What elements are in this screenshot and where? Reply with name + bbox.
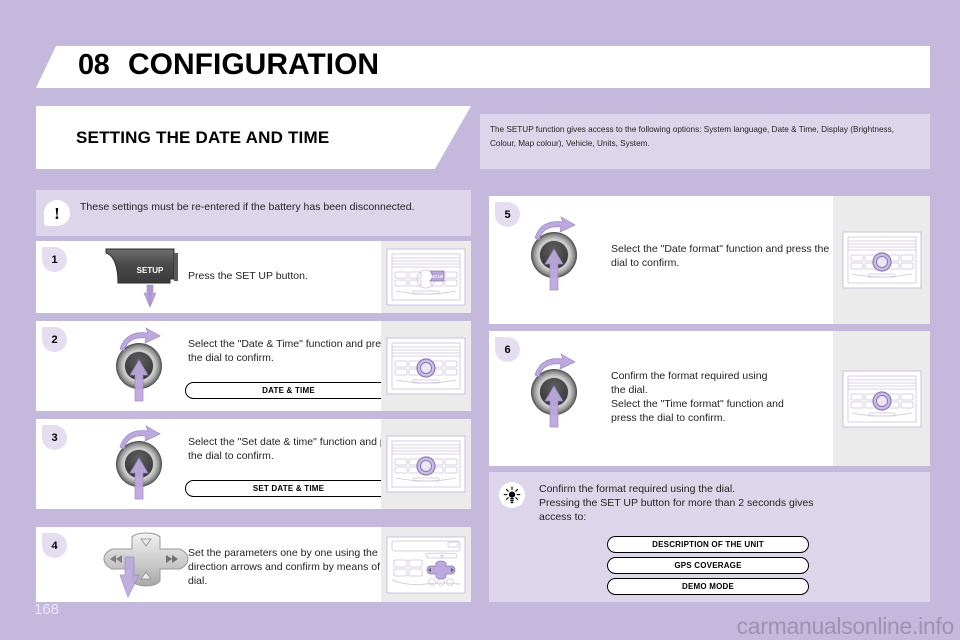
setup-button-label: SETUP [137, 266, 164, 275]
step-6-line-4: press the dial to confirm. [611, 411, 841, 425]
tip-note-text: Confirm the format required using the di… [539, 482, 919, 524]
steering-controls-pad-highlight-icon [386, 536, 466, 594]
rotary-dial-icon [523, 216, 585, 278]
step-card-5: 5 Select the "Date format" function and … [489, 196, 930, 324]
dial-arrows-svg [523, 353, 585, 431]
step-2-text: Select the "Date & Time" function and pr… [188, 337, 406, 365]
rotary-dial-icon [108, 327, 170, 389]
exclamation-glyph: ! [54, 205, 60, 222]
section-title: SETTING THE DATE AND TIME [76, 128, 329, 148]
rotary-dial-icon [108, 425, 170, 487]
tip-line-3: access to: [539, 510, 919, 524]
tip-note: Confirm the format required using the di… [489, 472, 930, 602]
step-number-badge: 2 [42, 327, 67, 352]
intro-text: The SETUP function gives access to the f… [490, 123, 918, 151]
step-card-6: 6 Confirm the format required using the … [489, 331, 930, 466]
step-6-image-panel [833, 331, 930, 466]
option-button-date-time[interactable]: DATE & TIME [185, 382, 392, 399]
step-4-image-panel [381, 527, 471, 602]
direction-pad-icon [98, 531, 190, 599]
tip-bulb-icon [499, 482, 525, 508]
warning-note: ! These settings must be re-entered if t… [36, 190, 471, 236]
dial-arrows-svg [108, 327, 170, 405]
step-card-4: 4 Set the parameters one by one using th… [36, 527, 471, 602]
step-number-badge: 1 [42, 247, 67, 272]
page-number: 168 [34, 601, 59, 618]
step-6-line-1: Confirm the format required using [611, 369, 841, 383]
step-6-text: Confirm the format required using the di… [611, 369, 841, 425]
section-title-band: SETTING THE DATE AND TIME [36, 106, 471, 169]
setup-button-svg: SETUP [104, 247, 180, 309]
radio-unit-setup-highlight-icon: SETUP [386, 248, 466, 306]
step-card-1: 1 SETUP Press the SET UP button. [36, 241, 471, 313]
step-2-image-panel [381, 321, 471, 411]
step-1-image-panel: SETUP [381, 241, 471, 313]
option-button-set-date-time[interactable]: SET DATE & TIME [185, 480, 392, 497]
option-button-description-of-the-unit[interactable]: DESCRIPTION OF THE UNIT [607, 536, 809, 553]
step-4-text: Set the parameters one by one using the … [188, 546, 406, 588]
step-5-image-panel [833, 196, 930, 324]
tip-line-2: Pressing the SET UP button for more than… [539, 496, 919, 510]
step-number-badge: 6 [495, 337, 520, 362]
radio-unit-dial-highlight-icon [842, 231, 922, 289]
chapter-number: 08 [78, 49, 109, 82]
radio-unit-dial-highlight-icon [386, 337, 466, 395]
step-3-image-panel [381, 419, 471, 509]
dial-arrows-svg [523, 216, 585, 294]
exclamation-icon: ! [44, 200, 70, 226]
step-number-badge: 4 [42, 533, 67, 558]
site-watermark: carmanualsonline.info [737, 613, 954, 640]
option-button-demo-mode[interactable]: DEMO MODE [607, 578, 809, 595]
setup-button-icon: SETUP [104, 247, 180, 309]
step-1-text: Press the SET UP button. [188, 269, 403, 283]
step-5-text: Select the "Date format" function and pr… [611, 242, 831, 270]
direction-pad-svg [98, 531, 190, 599]
dial-arrows-svg [108, 425, 170, 503]
step-number-badge: 3 [42, 425, 67, 450]
step-card-3: 3 Select the "Set date & time" function … [36, 419, 471, 509]
chapter-header: 08 CONFIGURATION [36, 46, 930, 88]
page-title: CONFIGURATION [128, 48, 379, 82]
radio-unit-dial-highlight-icon [842, 370, 922, 428]
tip-line-1: Confirm the format required using the di… [539, 482, 919, 496]
warning-note-text: These settings must be re-entered if the… [80, 200, 470, 214]
step-6-line-2: the dial. [611, 383, 841, 397]
step-3-text: Select the "Set date & time" function an… [188, 435, 406, 463]
rotary-dial-icon [523, 353, 585, 415]
step-6-line-3: Select the "Time format" function and [611, 397, 841, 411]
option-button-gps-coverage[interactable]: GPS COVERAGE [607, 557, 809, 574]
radio-unit-dial-highlight-icon [386, 435, 466, 493]
step-number-badge: 5 [495, 202, 520, 227]
intro-box: The SETUP function gives access to the f… [480, 114, 930, 169]
tip-bulb-svg [503, 486, 521, 504]
svg-text:SETUP: SETUP [430, 274, 444, 279]
step-card-2: 2 Select the "Date & Time" function and … [36, 321, 471, 411]
